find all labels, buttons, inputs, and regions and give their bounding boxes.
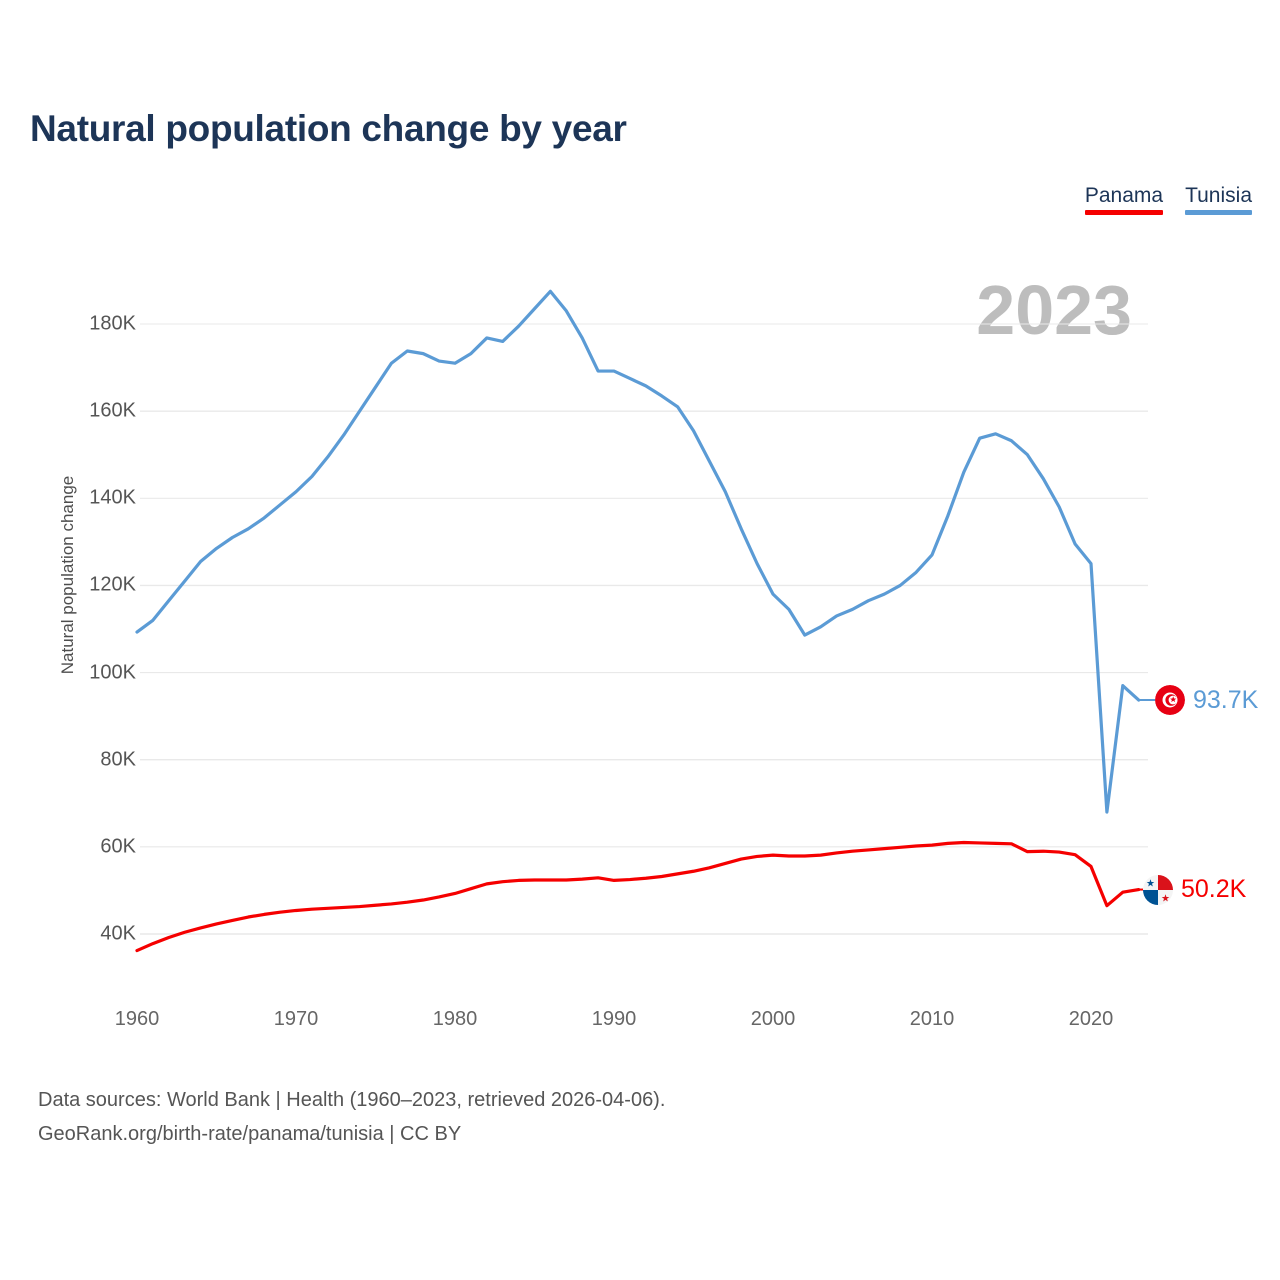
panama-flag-icon: [1143, 875, 1173, 905]
footer-line-1: Data sources: World Bank | Health (1960–…: [38, 1083, 665, 1117]
chart-root: Natural population change by year Panama…: [0, 0, 1280, 1280]
series-lines: [137, 291, 1139, 950]
end-label-tunisia: 93.7K: [1155, 685, 1258, 715]
end-label-tunisia-value: 93.7K: [1193, 686, 1258, 715]
end-label-panama-value: 50.2K: [1181, 875, 1246, 904]
footer-sources: Data sources: World Bank | Health (1960–…: [38, 1083, 665, 1152]
end-label-panama: 50.2K: [1143, 875, 1246, 905]
tunisia-flag-icon: [1155, 685, 1185, 715]
series-line-tunisia: [137, 291, 1139, 812]
footer-line-2: GeoRank.org/birth-rate/panama/tunisia | …: [38, 1117, 665, 1151]
